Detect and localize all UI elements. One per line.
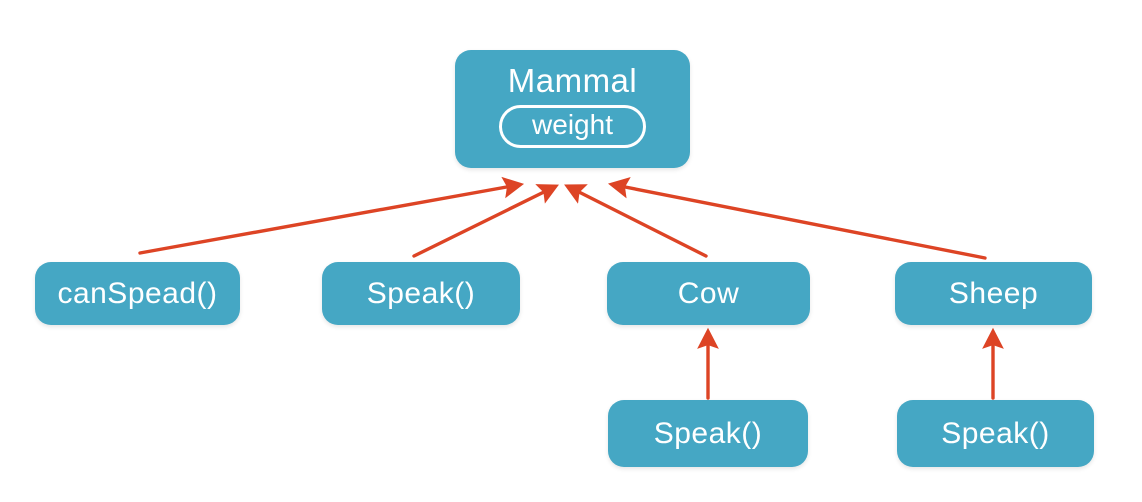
- node-speak-cow[interactable]: Speak(): [608, 400, 808, 467]
- edge-sheep-mammal: [620, 186, 985, 258]
- node-canspead[interactable]: canSpead(): [35, 262, 240, 325]
- edge-canspead-mammal: [140, 186, 512, 253]
- node-canspead-label: canSpead(): [57, 279, 217, 309]
- diagram-canvas: Mammal weight canSpead() Speak() Cow She…: [0, 0, 1142, 502]
- node-speak-left[interactable]: Speak(): [322, 262, 520, 325]
- node-mammal-title: Mammal: [508, 64, 638, 97]
- node-speak-cow-label: Speak(): [654, 419, 763, 449]
- node-speak-sheep[interactable]: Speak(): [897, 400, 1094, 467]
- node-sheep-label: Sheep: [949, 279, 1038, 309]
- node-cow[interactable]: Cow: [607, 262, 810, 325]
- edge-cow-mammal: [575, 190, 706, 256]
- edge-speak-left-mammal: [414, 190, 548, 256]
- node-speak-left-label: Speak(): [367, 279, 476, 309]
- node-mammal-attribute: weight: [499, 105, 646, 148]
- node-sheep[interactable]: Sheep: [895, 262, 1092, 325]
- node-mammal[interactable]: Mammal weight: [455, 50, 690, 168]
- node-speak-sheep-label: Speak(): [941, 419, 1050, 449]
- node-cow-label: Cow: [678, 279, 740, 309]
